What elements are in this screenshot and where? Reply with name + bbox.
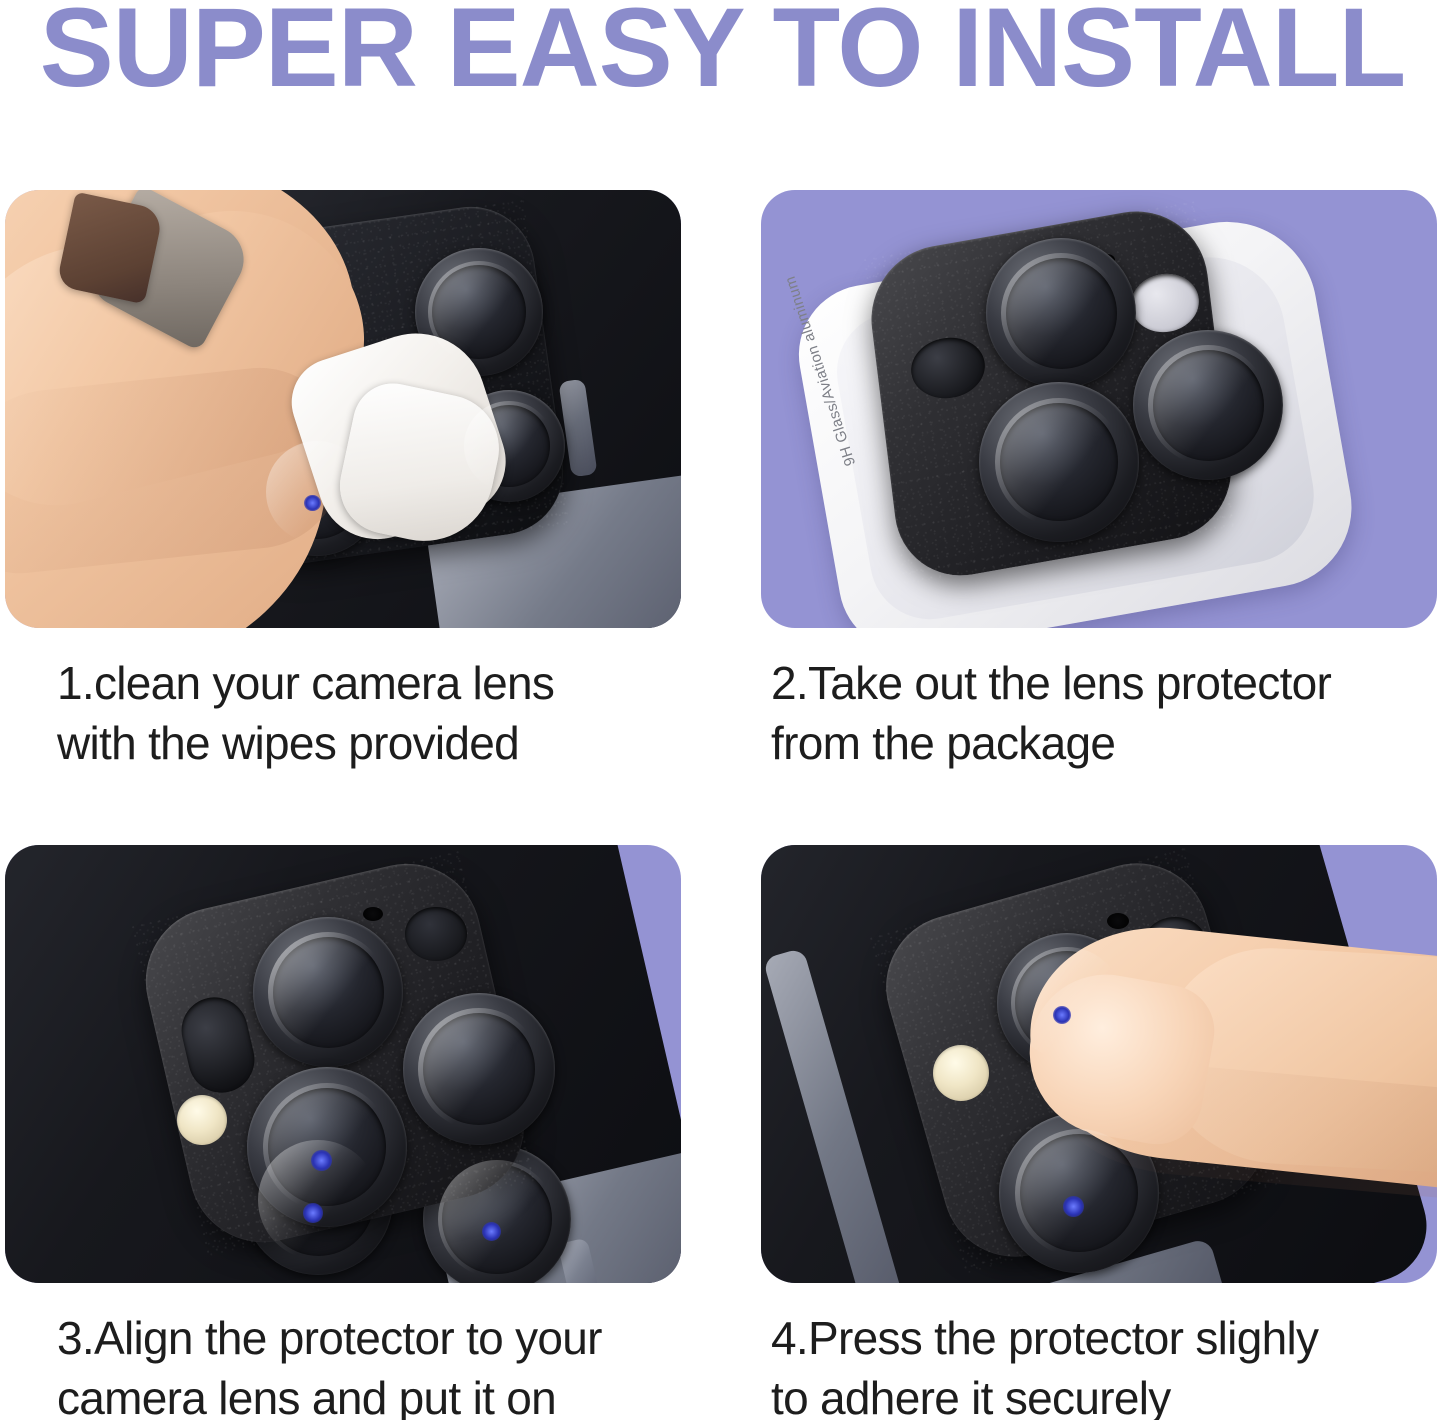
step-1: 1.clean your camera lens with the wipes … [5,190,681,774]
protector-lens-ring [1133,330,1283,480]
step-3-photo-align-protector [5,845,681,1283]
step-2-photo-take-out-protector: 9H Glass/Aviation aluminum [761,190,1437,628]
step-1-photo-clean-lens [5,190,681,628]
step-2: 9H Glass/Aviation aluminum [761,190,1437,774]
step-3: 3.Align the protector to your camera len… [5,845,681,1420]
protector-lens-ring [979,382,1139,542]
step-4-caption: 4.Press the protector slighly to adhere … [761,1309,1437,1420]
page-title: SUPER EASY TO INSTALL [7,0,1438,102]
step-1-caption: 1.clean your camera lens with the wipes … [5,654,681,774]
step-2-caption: 2.Take out the lens protector from the p… [761,654,1437,774]
flash-icon [933,1045,989,1101]
protector-lens-ring [247,1067,407,1227]
step-4-photo-press-protector [761,845,1437,1283]
protector-lens-ring [986,238,1136,388]
protector-lens-ring [253,917,403,1067]
step-4: 4.Press the protector slighly to adhere … [761,845,1437,1420]
protector-lens-ring [403,993,555,1145]
steps-grid: 1.clean your camera lens with the wipes … [0,120,1445,1420]
step-3-caption: 3.Align the protector to your camera len… [5,1309,681,1420]
install-instructions-page: SUPER EASY TO INSTALL [0,0,1445,1420]
